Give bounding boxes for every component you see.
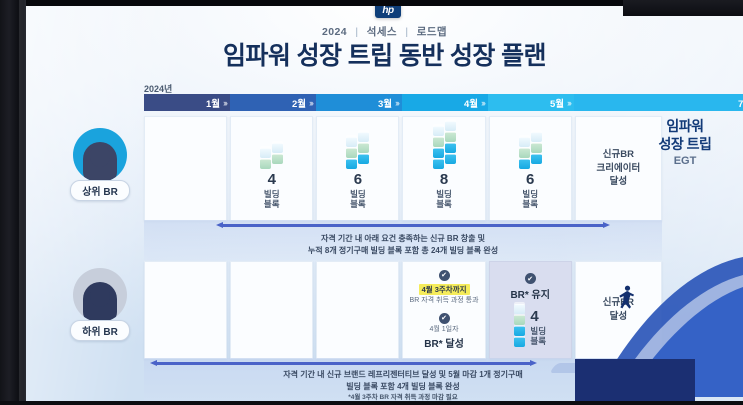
block-unit (531, 143, 542, 153)
block-stack (531, 132, 542, 164)
device-bezel-bottom (0, 401, 743, 405)
timeline-bar: 1월›››2월›››3월›››4월›››5월›››7월››› (144, 94, 743, 111)
timeline-segment-3[interactable]: 3월››› (316, 94, 402, 111)
arrow-head-right-icon (603, 222, 610, 228)
milestone-highlight: 4월 3주차까지 (419, 284, 470, 295)
block-count-label: 빌딩블록 (522, 189, 538, 210)
block-stack (445, 121, 456, 164)
roadmap-cell-bottom-4[interactable]: ✔4월 3주차까지BR 자격 취득 과정 통과✔4월 1일자BR* 달성 (402, 261, 485, 359)
hp-logo: hp (375, 6, 401, 18)
milestone-group-2: ✔4월 1일자BR* 달성 (424, 313, 464, 351)
maintain-block-row: 4빌딩블록 (514, 305, 546, 347)
egt-panel: 임파워 성장 트립 EGT (637, 118, 733, 167)
building-block-icon (260, 127, 283, 169)
timeline-month-label: 4월 (464, 96, 478, 110)
roadmap-cell-bottom-3[interactable] (316, 261, 399, 359)
building-block-icon (433, 127, 456, 169)
block-stack (519, 137, 530, 169)
egt-line2: 성장 트립 (637, 136, 733, 154)
block-stack (346, 137, 357, 169)
block-count: 4 (268, 172, 276, 188)
arrow-bar (222, 224, 604, 227)
caption-top-line1: 자격 기간 내 아래 요건 충족하는 신규 BR 창출 및 (144, 233, 662, 245)
avatar (73, 268, 127, 322)
block-unit (346, 159, 357, 169)
block-unit (433, 159, 444, 169)
timeline-month-label: 2월 (292, 96, 306, 110)
roadmap-cell-top-3[interactable]: 6빌딩블록 (316, 116, 399, 221)
page-title: 임파워 성장 트립 동반 성장 플랜 (26, 36, 743, 72)
block-unit (260, 148, 271, 158)
persona-label-top: 상위 BR (70, 180, 130, 201)
building-block-icon (346, 127, 369, 169)
block-unit (445, 143, 456, 153)
block-stack (272, 143, 283, 164)
block-count-label: 빌딩블록 (436, 189, 452, 210)
caption-top: 자격 기간 내 아래 요건 충족하는 신규 BR 창출 및 누적 8개 정기구매… (144, 233, 662, 257)
timeline-month-label: 7월 (738, 96, 743, 110)
screenshot-stage: hp 2024 | 석세스 | 로드맵 임파워 성장 트립 동반 성장 플랜 2… (0, 0, 743, 405)
roadmap-row-top: 4빌딩블록6빌딩블록8빌딩블록6빌딩블록신규BR크리에이터달성 (144, 116, 662, 221)
block-unit (531, 154, 542, 164)
avatar-silhouette-icon (83, 142, 117, 182)
roadmap-cell-bottom-1[interactable] (144, 261, 227, 359)
block-unit (519, 159, 530, 169)
block-unit (358, 132, 369, 142)
timeline-segment-6[interactable]: 7월››› (574, 94, 743, 111)
device-bezel-top-right (623, 0, 743, 16)
milestone-group-1: ✔4월 3주차까지BR 자격 취득 과정 통과 (410, 270, 479, 306)
chevron-right-icon: ››› (223, 98, 226, 108)
block-unit (358, 154, 369, 164)
chevron-right-icon: ››› (567, 98, 570, 108)
block-unit (433, 137, 444, 147)
block-unit (514, 337, 525, 347)
runner-silhouette-icon (617, 285, 633, 311)
block-count: 8 (440, 172, 448, 188)
egt-line1: 임파워 (637, 118, 733, 136)
check-circle-icon: ✔ (525, 273, 536, 284)
block-stack (433, 126, 444, 169)
timeline-segment-2[interactable]: 2월››› (230, 94, 316, 111)
persona-low-br: 하위 BR (62, 268, 138, 341)
block-unit (514, 304, 525, 314)
block-unit (346, 148, 357, 158)
device-bezel-left (0, 0, 26, 405)
block-unit (433, 126, 444, 136)
roadmap-cell-top-1[interactable] (144, 116, 227, 221)
check-circle-icon: ✔ (439, 270, 450, 281)
chevron-right-icon: ››› (481, 98, 484, 108)
arrow-bar (156, 362, 531, 365)
persona-top-br: 상위 BR (62, 128, 138, 201)
block-stack (514, 304, 525, 347)
building-block-icon (514, 305, 525, 347)
block-unit (519, 148, 530, 158)
roadmap-cell-bottom-2[interactable] (230, 261, 313, 359)
block-unit (272, 143, 283, 153)
milestone-subtext: BR 자격 취득 과정 통과 (410, 296, 479, 305)
range-arrow-bottom (150, 360, 537, 366)
block-count-label: 빌딩블록 (264, 189, 280, 210)
building-block-icon (519, 127, 542, 169)
roadmap-cell-top-2[interactable]: 4빌딩블록 (230, 116, 313, 221)
timeline-segment-5[interactable]: 5월››› (488, 94, 574, 111)
avatar-silhouette-icon (83, 282, 117, 322)
range-arrow-top (216, 222, 610, 228)
block-stack (358, 132, 369, 164)
egt-line3: EGT (637, 155, 733, 167)
block-unit (358, 143, 369, 153)
check-circle-icon: ✔ (439, 313, 450, 324)
persona-label-low: 하위 BR (70, 320, 130, 341)
block-unit (514, 326, 525, 336)
cell-text: 신규BR크리에이터달성 (597, 148, 641, 189)
block-count: 6 (526, 172, 534, 188)
block-unit (445, 154, 456, 164)
chevron-right-icon: ››› (395, 98, 398, 108)
timeline-month-label: 1월 (206, 96, 220, 110)
block-unit (531, 132, 542, 142)
roadmap-band-top: 자격 기간 내 아래 요건 충족하는 신규 BR 창출 및 누적 8개 정기구매… (144, 220, 662, 260)
block-stack (260, 148, 271, 169)
timeline-month-label: 5월 (550, 96, 564, 110)
timeline-segment-4[interactable]: 4월››› (402, 94, 488, 111)
roadmap-cell-top-4[interactable]: 8빌딩블록 (402, 116, 485, 221)
milestone-achievement: BR* 달성 (424, 335, 464, 350)
block-unit (260, 159, 271, 169)
milestone-date: 4월 1일자 (430, 325, 459, 334)
roadmap-cell-top-5[interactable]: 6빌딩블록 (489, 116, 572, 221)
slide-canvas: hp 2024 | 석세스 | 로드맵 임파워 성장 트립 동반 성장 플랜 2… (26, 6, 743, 401)
arrow-head-right-icon (530, 360, 537, 366)
block-unit (346, 137, 357, 147)
block-unit (514, 315, 525, 325)
block-unit (272, 154, 283, 164)
block-unit (445, 121, 456, 131)
block-count-label: 빌딩블록 (350, 189, 366, 210)
block-count: 6 (354, 172, 362, 188)
plinth-block (575, 359, 695, 401)
timeline-month-label: 3월 (378, 96, 392, 110)
caption-top-line2: 누적 8개 정기구매 빌딩 블록 포함 총 24개 빌딩 블록 완성 (144, 245, 662, 257)
block-unit (433, 148, 444, 158)
timeline-segment-1[interactable]: 1월››› (144, 94, 230, 111)
avatar (73, 128, 127, 182)
block-unit (519, 137, 530, 147)
block-unit (445, 132, 456, 142)
chevron-right-icon: ››› (309, 98, 312, 108)
